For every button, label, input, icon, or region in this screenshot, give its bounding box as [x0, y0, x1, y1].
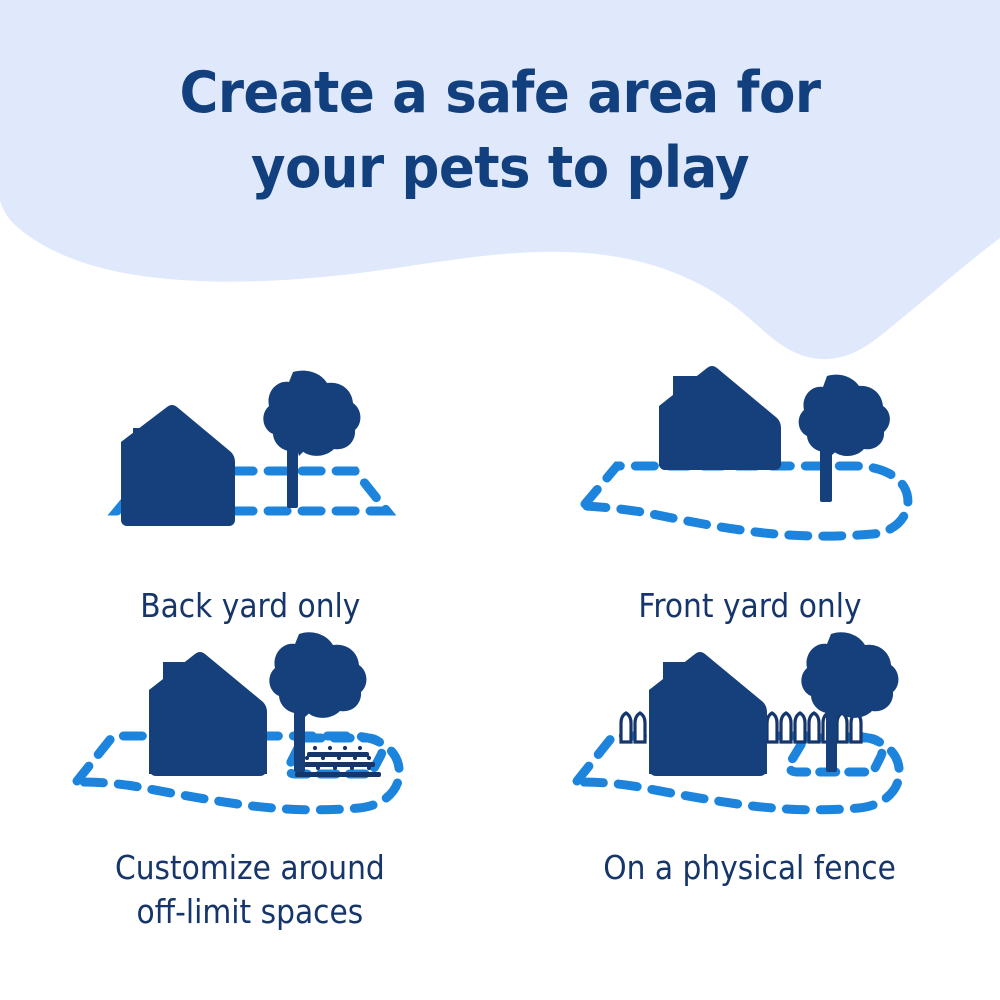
page-title-line-2: your pets to play [35, 131, 965, 206]
house-base [659, 424, 781, 470]
house-shape [149, 652, 267, 776]
house-base [149, 706, 267, 776]
option-on-a-physical-fence[interactable]: On a physical fence [500, 620, 1000, 950]
tree-shape [799, 375, 890, 502]
option-front-yard-only[interactable]: Front yard only [500, 352, 1000, 620]
dashed-boundary [585, 466, 908, 536]
house-tree-garden-exclusion-icon [55, 626, 445, 826]
tree-shape [263, 371, 360, 508]
tree-canopy [263, 371, 360, 456]
house-shape [649, 652, 767, 776]
house-shape [121, 405, 235, 526]
option-back-yard-only[interactable]: Back yard only [0, 352, 500, 620]
option-label: On a physical fence [604, 846, 897, 890]
tree-canopy [801, 632, 898, 718]
house-shape [659, 366, 781, 470]
house-base [649, 706, 767, 776]
page-title-line-1: Create a safe area for [35, 56, 965, 131]
page-title: Create a safe area for your pets to play [0, 56, 1000, 206]
tree-shape [269, 632, 366, 772]
option-customize-around-off-limit-spaces[interactable]: Customize around off-limit spaces [0, 620, 500, 950]
option-label: Customize around off-limit spaces [115, 846, 385, 934]
house-base [121, 466, 235, 526]
tree-canopy [269, 632, 366, 718]
options-grid: Back yard only [0, 352, 1000, 1000]
house-tree-picket-fence-icon [555, 626, 945, 826]
house-tree-front-yard-boundary-icon [555, 354, 945, 554]
pet-safe-area-infographic: Create a safe area for your pets to play [0, 0, 1000, 1000]
garden-bed [295, 746, 381, 777]
tree-canopy [799, 375, 890, 456]
house-tree-back-yard-boundary-icon [55, 366, 445, 566]
